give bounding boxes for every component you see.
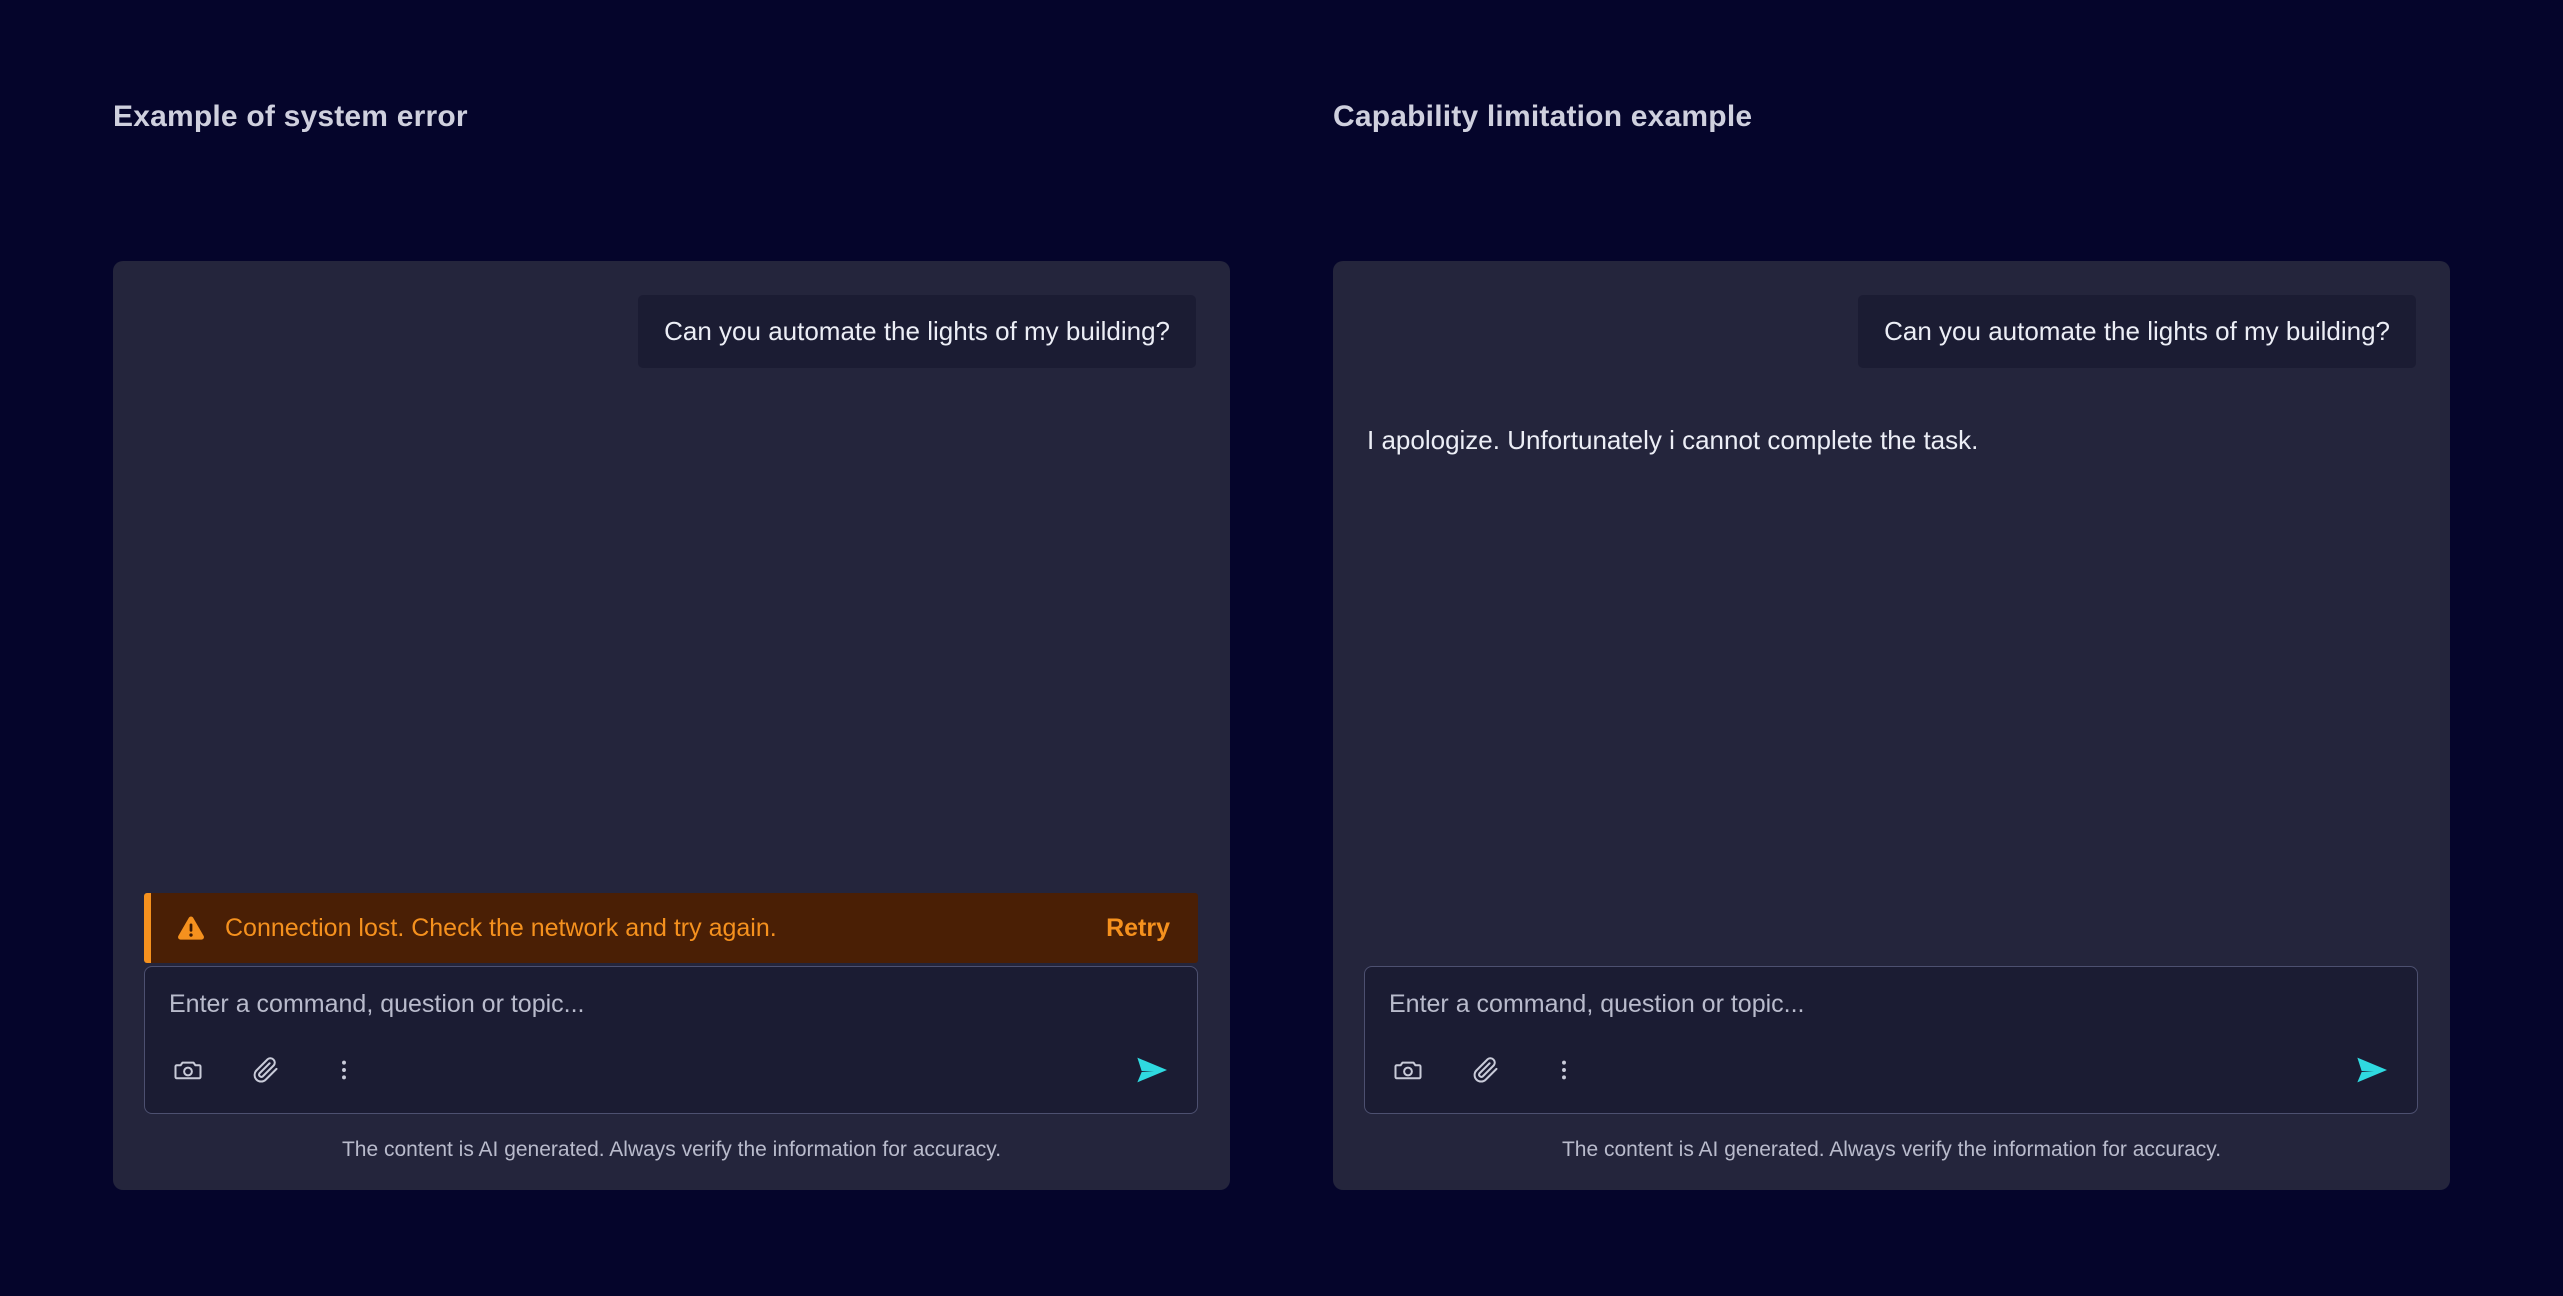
command-input[interactable] [169, 989, 1173, 1019]
page-title: Example of system error [113, 100, 468, 134]
warning-triangle-icon [175, 912, 207, 944]
send-icon[interactable] [2351, 1049, 2393, 1091]
chat-panel: Can you automate the lights of my buildi… [1333, 261, 2450, 1190]
page-root: Example of system error Can you automate… [0, 0, 2563, 1296]
more-options-icon[interactable] [1545, 1051, 1583, 1089]
camera-icon[interactable] [1389, 1051, 1427, 1089]
composer [1364, 966, 2418, 1114]
camera-icon[interactable] [169, 1051, 207, 1089]
composer-toolbar [169, 1049, 1173, 1091]
error-banner: Connection lost. Check the network and t… [144, 893, 1198, 963]
composer [144, 966, 1198, 1114]
message-list: Can you automate the lights of my buildi… [113, 261, 1230, 368]
retry-button[interactable]: Retry [1106, 914, 1170, 943]
composer-toolbar [1389, 1049, 2393, 1091]
send-icon[interactable] [1131, 1049, 1173, 1091]
ai-disclaimer: The content is AI generated. Always veri… [113, 1138, 1230, 1162]
paperclip-icon[interactable] [1467, 1051, 1505, 1089]
message-row-user: Can you automate the lights of my buildi… [1367, 295, 2416, 368]
paperclip-icon[interactable] [247, 1051, 285, 1089]
assistant-message-text: I apologize. Unfortunately i cannot comp… [1367, 424, 1978, 458]
message-row-assistant: I apologize. Unfortunately i cannot comp… [1367, 424, 2416, 458]
command-input[interactable] [1389, 989, 2393, 1019]
error-message-text: Connection lost. Check the network and t… [225, 914, 1106, 943]
more-options-icon[interactable] [325, 1051, 363, 1089]
example-capability-limitation: Capability limitation example Can you au… [1333, 0, 2450, 1296]
example-system-error: Example of system error Can you automate… [113, 0, 1230, 1296]
message-list: Can you automate the lights of my buildi… [1333, 261, 2450, 457]
page-title: Capability limitation example [1333, 100, 1752, 134]
user-message-bubble: Can you automate the lights of my buildi… [638, 295, 1196, 368]
message-row-user: Can you automate the lights of my buildi… [147, 295, 1196, 368]
user-message-bubble: Can you automate the lights of my buildi… [1858, 295, 2416, 368]
chat-panel: Can you automate the lights of my buildi… [113, 261, 1230, 1190]
ai-disclaimer: The content is AI generated. Always veri… [1333, 1138, 2450, 1162]
